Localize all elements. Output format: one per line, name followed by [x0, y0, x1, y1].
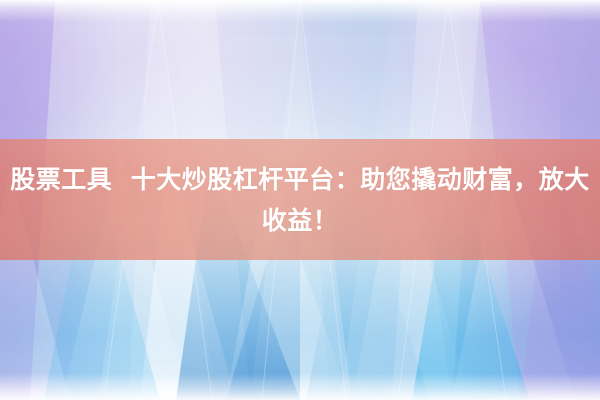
promo-banner: 股票工具 十大炒股杠杆平台：助您撬动财富，放大收益！ — [0, 0, 600, 400]
caption-band: 股票工具 十大炒股杠杆平台：助您撬动财富，放大收益！ — [0, 139, 600, 260]
caption-text: 股票工具 十大炒股杠杆平台：助您撬动财富，放大收益！ — [8, 159, 592, 241]
